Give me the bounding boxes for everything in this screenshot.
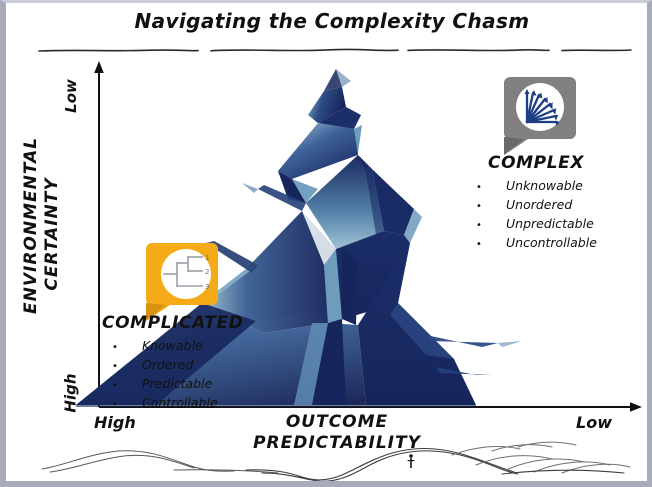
list-item: • Knowable bbox=[112, 337, 243, 356]
bullet-icon: • bbox=[476, 198, 506, 215]
complicated-bullet-4: Controllable bbox=[142, 394, 218, 411]
bullet-icon: • bbox=[112, 358, 142, 375]
x-axis-title-line2: PREDICTABILITY bbox=[253, 433, 421, 453]
slide-canvas: Navigating the Complexity Chasm bbox=[0, 0, 652, 487]
list-item: • Uncontrollable bbox=[476, 234, 597, 253]
y-axis-title-line1: ENVIRONMENTAL bbox=[21, 137, 41, 314]
radial-fan-icon bbox=[494, 75, 586, 159]
tree-label-2: 2 bbox=[205, 268, 209, 276]
list-item: • Predictable bbox=[112, 375, 243, 394]
complicated-bullet-2: Ordered bbox=[142, 356, 193, 373]
x-axis-title: OUTCOME PREDICTABILITY bbox=[232, 412, 442, 454]
complicated-bullet-1: Knowable bbox=[142, 337, 203, 354]
tree-label-3: 3 bbox=[205, 283, 209, 291]
complicated-bullet-3: Predictable bbox=[142, 375, 212, 392]
list-item: • Unordered bbox=[476, 196, 597, 215]
list-item: • Ordered bbox=[112, 356, 243, 375]
complicated-bullet-list: • Knowable • Ordered • Predictable • Con… bbox=[112, 337, 243, 413]
bullet-icon: • bbox=[112, 377, 142, 394]
complex-callout: COMPLEX • Unknowable • Unordered • Unpre… bbox=[476, 153, 597, 253]
bullet-icon: • bbox=[112, 339, 142, 356]
complex-heading: COMPLEX bbox=[488, 153, 597, 173]
bullet-icon: • bbox=[112, 396, 142, 413]
complicated-heading: COMPLICATED bbox=[102, 313, 243, 333]
complex-icon-wrap bbox=[494, 75, 586, 159]
x-axis-label-high: High bbox=[94, 413, 136, 432]
complex-bullet-4: Uncontrollable bbox=[506, 234, 597, 251]
tree-label-1: 1 bbox=[205, 254, 209, 262]
complex-bullet-2: Unordered bbox=[506, 196, 572, 213]
y-axis-title: ENVIRONMENTAL CERTAINTY bbox=[21, 154, 63, 314]
bullet-icon: • bbox=[476, 179, 506, 196]
y-axis-label-high: High bbox=[62, 373, 80, 412]
bullet-icon: • bbox=[476, 236, 506, 253]
page-title: Navigating the Complexity Chasm bbox=[6, 9, 652, 33]
list-item: • Controllable bbox=[112, 394, 243, 413]
y-axis-title-line2: CERTAINTY bbox=[42, 177, 62, 290]
complex-bullet-list: • Unknowable • Unordered • Unpredictable… bbox=[476, 177, 597, 253]
complicated-callout: COMPLICATED • Knowable • Ordered • Predi… bbox=[94, 313, 243, 413]
x-axis-title-line1: OUTCOME bbox=[286, 412, 388, 432]
lone-figure bbox=[408, 454, 415, 468]
complex-bullet-1: Unknowable bbox=[506, 177, 583, 194]
x-axis-label-low: Low bbox=[576, 413, 612, 432]
list-item: • Unpredictable bbox=[476, 215, 597, 234]
diagram-area: Navigating the Complexity Chasm bbox=[6, 3, 647, 481]
list-item: • Unknowable bbox=[476, 177, 597, 196]
y-axis-label-low: Low bbox=[62, 79, 80, 113]
complex-bullet-3: Unpredictable bbox=[506, 215, 594, 232]
bullet-icon: • bbox=[476, 217, 506, 234]
